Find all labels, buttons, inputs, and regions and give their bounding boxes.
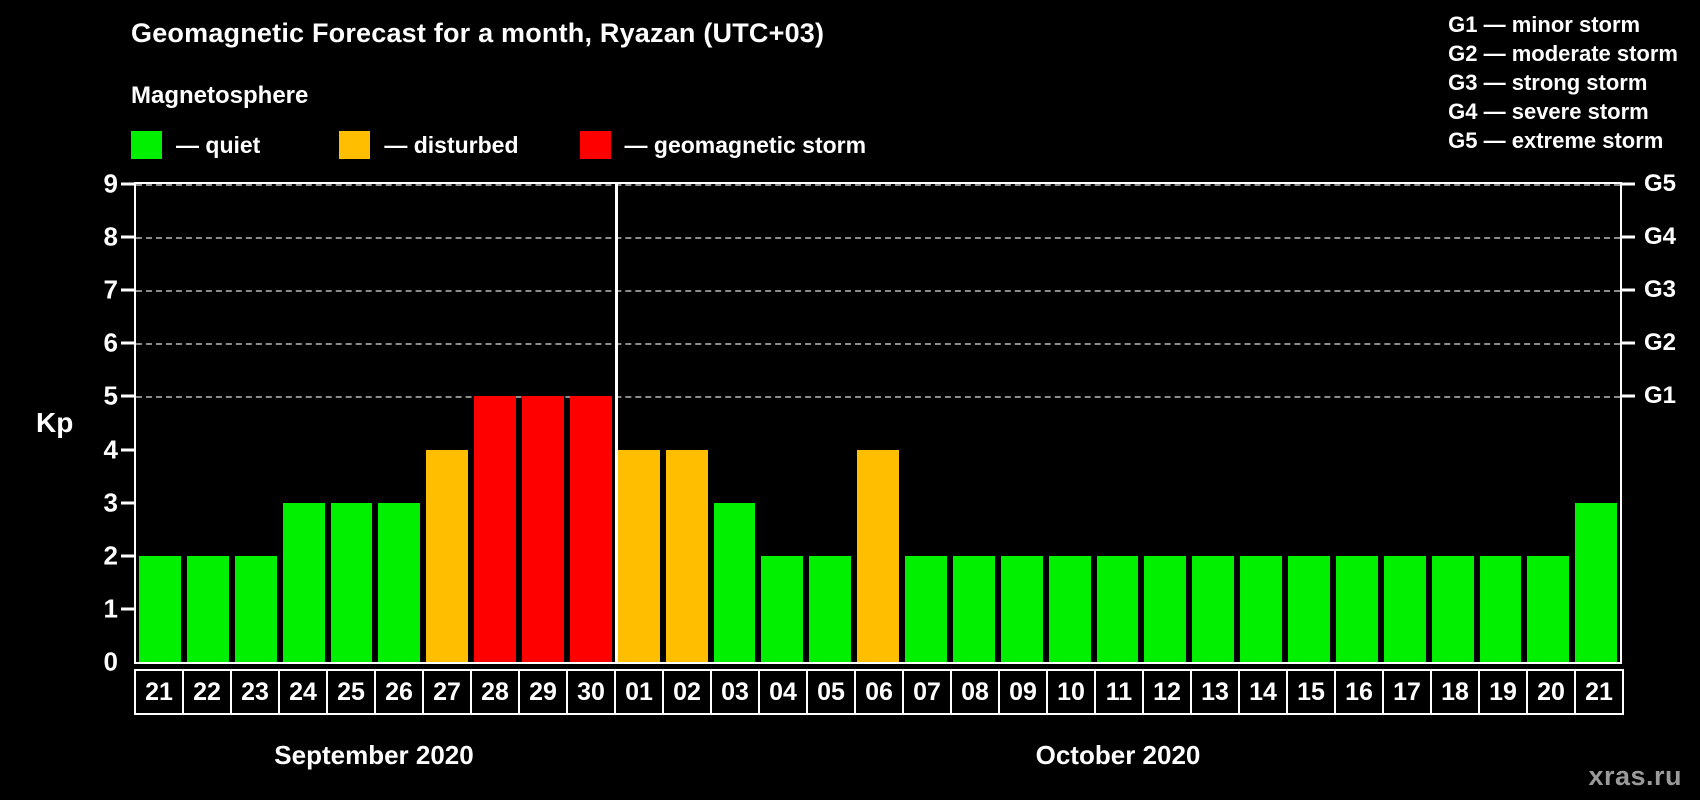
bar-cell <box>1189 184 1237 662</box>
bar-21 <box>139 556 181 662</box>
day-label-05: 05 <box>806 669 856 715</box>
day-label-23: 23 <box>230 669 280 715</box>
bar-cell <box>1046 184 1094 662</box>
g-tick-mark-g5 <box>1622 183 1635 186</box>
day-label-14: 14 <box>1238 669 1288 715</box>
legend-item-quiet: — quiet <box>131 131 260 159</box>
day-label-18: 18 <box>1430 669 1480 715</box>
day-label-06: 06 <box>854 669 904 715</box>
bar-07 <box>905 556 947 662</box>
bar-cell <box>902 184 950 662</box>
bar-09 <box>1001 556 1043 662</box>
bar-28 <box>474 396 516 662</box>
legend-swatch-disturbed-icon <box>339 131 370 159</box>
bar-cell <box>1477 184 1525 662</box>
bar-30 <box>570 396 612 662</box>
y-axis: 0123456789 <box>0 182 134 664</box>
bar-13 <box>1192 556 1234 662</box>
gscale-legend: G1 — minor stormG2 — moderate stormG3 — … <box>1448 10 1678 155</box>
bar-21 <box>1575 503 1617 662</box>
day-label-30: 30 <box>566 669 616 715</box>
y-tick-label-4: 4 <box>104 434 118 465</box>
bar-cell <box>806 184 854 662</box>
day-label-26: 26 <box>374 669 424 715</box>
day-label-13: 13 <box>1190 669 1240 715</box>
bar-03 <box>714 503 756 662</box>
day-label-03: 03 <box>710 669 760 715</box>
bar-18 <box>1432 556 1474 662</box>
bar-02 <box>666 450 708 662</box>
bar-25 <box>331 503 373 662</box>
bar-cell <box>375 184 423 662</box>
bar-15 <box>1288 556 1330 662</box>
bar-16 <box>1336 556 1378 662</box>
bar-14 <box>1240 556 1282 662</box>
g-tick-mark-g2 <box>1622 342 1635 345</box>
legend-item-disturbed: — disturbed <box>339 131 518 159</box>
day-label-09: 09 <box>998 669 1048 715</box>
bar-cell <box>423 184 471 662</box>
day-label-04: 04 <box>758 669 808 715</box>
g-axis: G1G2G3G4G5 <box>1622 182 1700 664</box>
bar-17 <box>1384 556 1426 662</box>
bar-29 <box>522 396 564 662</box>
y-tick-label-5: 5 <box>104 381 118 412</box>
day-label-16: 16 <box>1334 669 1384 715</box>
day-label-02: 02 <box>662 669 712 715</box>
y-tick-mark-9 <box>121 183 134 186</box>
chart-root: Geomagnetic Forecast for a month, Ryazan… <box>0 0 1700 800</box>
day-label-27: 27 <box>422 669 472 715</box>
bar-cell <box>328 184 376 662</box>
bar-series <box>136 184 1620 662</box>
day-label-15: 15 <box>1286 669 1336 715</box>
bar-cell <box>1429 184 1477 662</box>
y-tick-mark-5 <box>121 395 134 398</box>
g-tick-label-g5: G5 <box>1644 170 1676 198</box>
y-tick-label-1: 1 <box>104 593 118 624</box>
day-label-28: 28 <box>470 669 520 715</box>
day-label-24: 24 <box>278 669 328 715</box>
day-label-17: 17 <box>1382 669 1432 715</box>
g-tick-mark-g3 <box>1622 289 1635 292</box>
day-axis: 2122232425262728293001020304050607080910… <box>134 669 1622 715</box>
bar-27 <box>426 450 468 662</box>
legend-label-disturbed: — disturbed <box>384 132 518 159</box>
g-tick-mark-g4 <box>1622 236 1635 239</box>
bar-cell <box>184 184 232 662</box>
legend-swatch-quiet-icon <box>131 131 162 159</box>
bar-cell <box>1381 184 1429 662</box>
y-tick-mark-4 <box>121 448 134 451</box>
day-label-12: 12 <box>1142 669 1192 715</box>
month-captions: September 2020October 2020 <box>134 740 1622 780</box>
gscale-line-g3: G3 — strong storm <box>1448 68 1678 97</box>
day-label-20: 20 <box>1526 669 1576 715</box>
bar-19 <box>1480 556 1522 662</box>
bar-23 <box>235 556 277 662</box>
day-label-22: 22 <box>182 669 232 715</box>
y-tick-mark-8 <box>121 236 134 239</box>
bar-05 <box>809 556 851 662</box>
bar-cell <box>663 184 711 662</box>
y-tick-label-2: 2 <box>104 540 118 571</box>
day-label-21: 21 <box>1574 669 1624 715</box>
month-caption: October 2020 <box>1036 740 1201 771</box>
bar-cell <box>519 184 567 662</box>
y-tick-label-8: 8 <box>104 222 118 253</box>
y-tick-mark-2 <box>121 554 134 557</box>
bar-cell <box>615 184 663 662</box>
bar-cell <box>1141 184 1189 662</box>
day-label-01: 01 <box>614 669 664 715</box>
gscale-line-g4: G4 — severe storm <box>1448 97 1678 126</box>
day-label-19: 19 <box>1478 669 1528 715</box>
bar-cell <box>758 184 806 662</box>
plot-area <box>134 182 1622 664</box>
y-tick-mark-1 <box>121 607 134 610</box>
gscale-line-g5: G5 — extreme storm <box>1448 126 1678 155</box>
day-label-11: 11 <box>1094 669 1144 715</box>
bar-cell <box>1333 184 1381 662</box>
day-label-21: 21 <box>134 669 184 715</box>
month-separator <box>615 184 618 662</box>
bar-11 <box>1097 556 1139 662</box>
y-tick-label-9: 9 <box>104 169 118 200</box>
bar-20 <box>1527 556 1569 662</box>
bar-01 <box>618 450 660 662</box>
legend-label-storm: — geomagnetic storm <box>625 132 867 159</box>
legend-section-title: Magnetosphere <box>131 82 308 110</box>
y-tick-mark-3 <box>121 501 134 504</box>
legend: — quiet— disturbed— geomagnetic storm <box>131 131 866 159</box>
bar-cell <box>1285 184 1333 662</box>
bar-cell <box>232 184 280 662</box>
bar-10 <box>1049 556 1091 662</box>
y-tick-label-7: 7 <box>104 275 118 306</box>
y-tick-label-3: 3 <box>104 487 118 518</box>
bar-cell <box>280 184 328 662</box>
g-tick-mark-g1 <box>1622 395 1635 398</box>
y-tick-mark-6 <box>121 342 134 345</box>
gscale-line-g1: G1 — minor storm <box>1448 10 1678 39</box>
page-title: Geomagnetic Forecast for a month, Ryazan… <box>131 18 824 49</box>
bar-cell <box>998 184 1046 662</box>
bar-cell <box>567 184 615 662</box>
bar-04 <box>761 556 803 662</box>
bar-cell <box>1237 184 1285 662</box>
bar-08 <box>953 556 995 662</box>
gscale-line-g2: G2 — moderate storm <box>1448 39 1678 68</box>
day-label-29: 29 <box>518 669 568 715</box>
legend-item-storm: — geomagnetic storm <box>580 131 867 159</box>
bar-06 <box>857 450 899 662</box>
bar-12 <box>1144 556 1186 662</box>
bar-cell <box>1094 184 1142 662</box>
legend-label-quiet: — quiet <box>176 132 260 159</box>
y-tick-mark-7 <box>121 289 134 292</box>
g-tick-label-g3: G3 <box>1644 276 1676 304</box>
day-label-25: 25 <box>326 669 376 715</box>
bar-24 <box>283 503 325 662</box>
bar-22 <box>187 556 229 662</box>
g-tick-label-g2: G2 <box>1644 329 1676 357</box>
bar-cell <box>136 184 184 662</box>
bar-cell <box>950 184 998 662</box>
legend-swatch-storm-icon <box>580 131 611 159</box>
bar-cell <box>471 184 519 662</box>
y-tick-label-0: 0 <box>104 647 118 678</box>
bar-cell <box>1572 184 1620 662</box>
y-tick-label-6: 6 <box>104 328 118 359</box>
g-tick-label-g1: G1 <box>1644 382 1676 410</box>
watermark: xras.ru <box>1588 761 1682 792</box>
month-caption: September 2020 <box>274 740 473 771</box>
bar-cell <box>1524 184 1572 662</box>
day-label-10: 10 <box>1046 669 1096 715</box>
bar-cell <box>854 184 902 662</box>
day-label-08: 08 <box>950 669 1000 715</box>
bar-cell <box>711 184 759 662</box>
g-tick-label-g4: G4 <box>1644 223 1676 251</box>
bar-26 <box>378 503 420 662</box>
day-label-07: 07 <box>902 669 952 715</box>
